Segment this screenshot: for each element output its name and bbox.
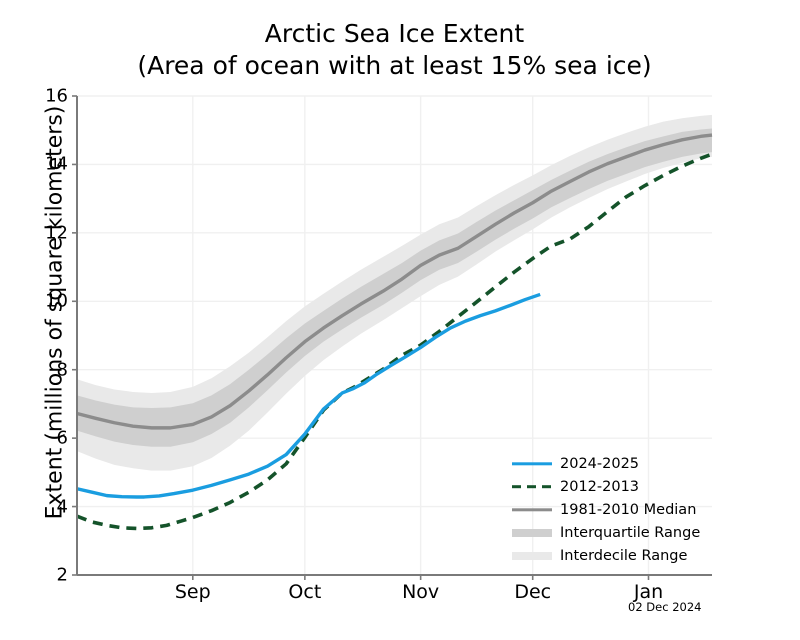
legend-item-label: Interquartile Range <box>560 525 700 541</box>
x-tick-label-jan: Jan <box>634 581 663 603</box>
arctic-sea-ice-extent-chart: Arctic Sea Ice Extent (Area of ocean wit… <box>0 0 800 640</box>
x-tick-label-oct: Oct <box>288 581 321 603</box>
y-tick-label: 12 <box>38 222 68 243</box>
legend-swatch-icon <box>512 480 552 494</box>
legend-item-2012-2013[interactable]: 2012-2013 <box>512 475 712 498</box>
legend-item-label: 2024-2025 <box>560 456 639 472</box>
x-tick-label-sep: Sep <box>175 581 211 603</box>
y-tick-label: 6 <box>38 428 68 449</box>
x-tick-label-nov: Nov <box>402 581 439 603</box>
x-tick-label-dec: Dec <box>514 581 551 603</box>
y-tick-label: 14 <box>38 154 68 175</box>
legend-item-label: 2012-2013 <box>560 479 639 495</box>
legend-swatch-icon <box>512 526 552 540</box>
legend-item-1981-2010-median[interactable]: 1981-2010 Median <box>512 498 712 521</box>
chart-legend: 2024-20252012-20131981-2010 MedianInterq… <box>512 452 712 567</box>
legend-swatch-icon <box>512 457 552 471</box>
legend-item-label: Interdecile Range <box>560 548 687 564</box>
legend-item-label: 1981-2010 Median <box>560 502 696 518</box>
legend-item-interdecile-range[interactable]: Interdecile Range <box>512 544 712 567</box>
y-tick-label: 8 <box>38 359 68 380</box>
legend-swatch-icon <box>512 503 552 517</box>
legend-swatch-icon <box>512 549 552 563</box>
y-tick-label: 4 <box>38 496 68 517</box>
y-tick-label: 10 <box>38 291 68 312</box>
legend-item-interquartile-range[interactable]: Interquartile Range <box>512 521 712 544</box>
legend-item-2024-2025[interactable]: 2024-2025 <box>512 452 712 475</box>
y-tick-label: 2 <box>38 565 68 586</box>
y-tick-label: 16 <box>38 86 68 107</box>
